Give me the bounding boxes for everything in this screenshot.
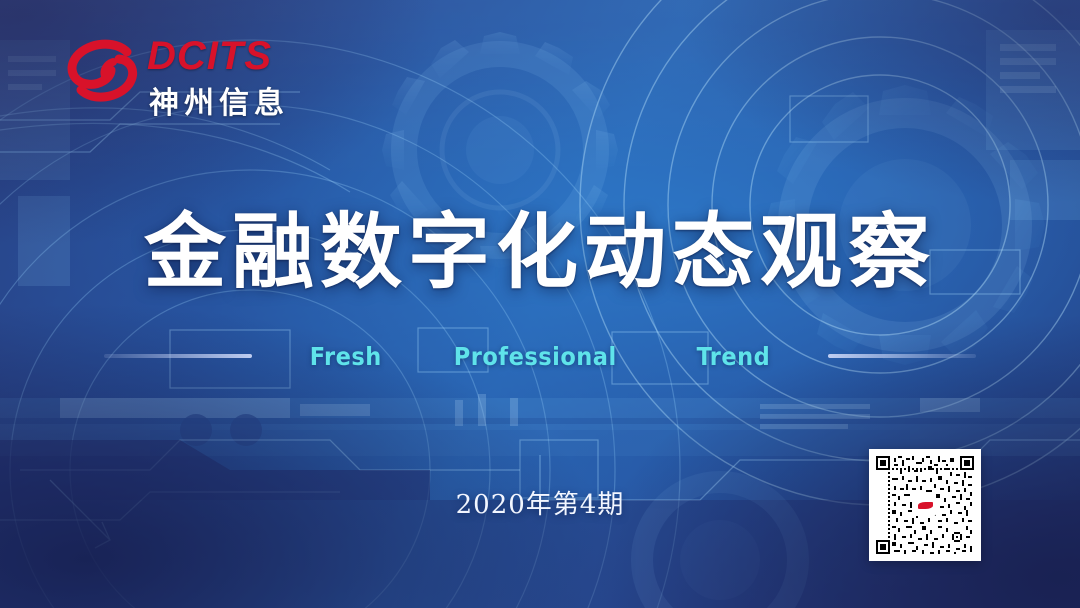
poster-canvas: DCITS 神州信息 金融数字化动态观察 Fresh Professional … (0, 0, 1080, 608)
logo-chinese-name: 神州信息 (149, 78, 289, 122)
qr-center-logo (914, 494, 936, 516)
qr-center-swoosh-icon (918, 502, 933, 509)
dcits-swoosh-icon (63, 32, 141, 110)
page-title: 金融数字化动态观察 (0, 185, 1080, 304)
logo-wordmark: DCITS (147, 34, 272, 79)
tagline-row: Fresh Professional Trend (0, 341, 1080, 371)
tagline-word-professional: Professional (454, 342, 617, 371)
tagline-word-fresh: Fresh (310, 342, 382, 371)
tagline-rule-left (104, 354, 252, 358)
tagline-word-trend: Trend (697, 342, 771, 371)
qr-code[interactable] (869, 449, 981, 561)
brand-logo: DCITS 神州信息 (63, 26, 313, 118)
tagline-rule-right (828, 354, 976, 358)
